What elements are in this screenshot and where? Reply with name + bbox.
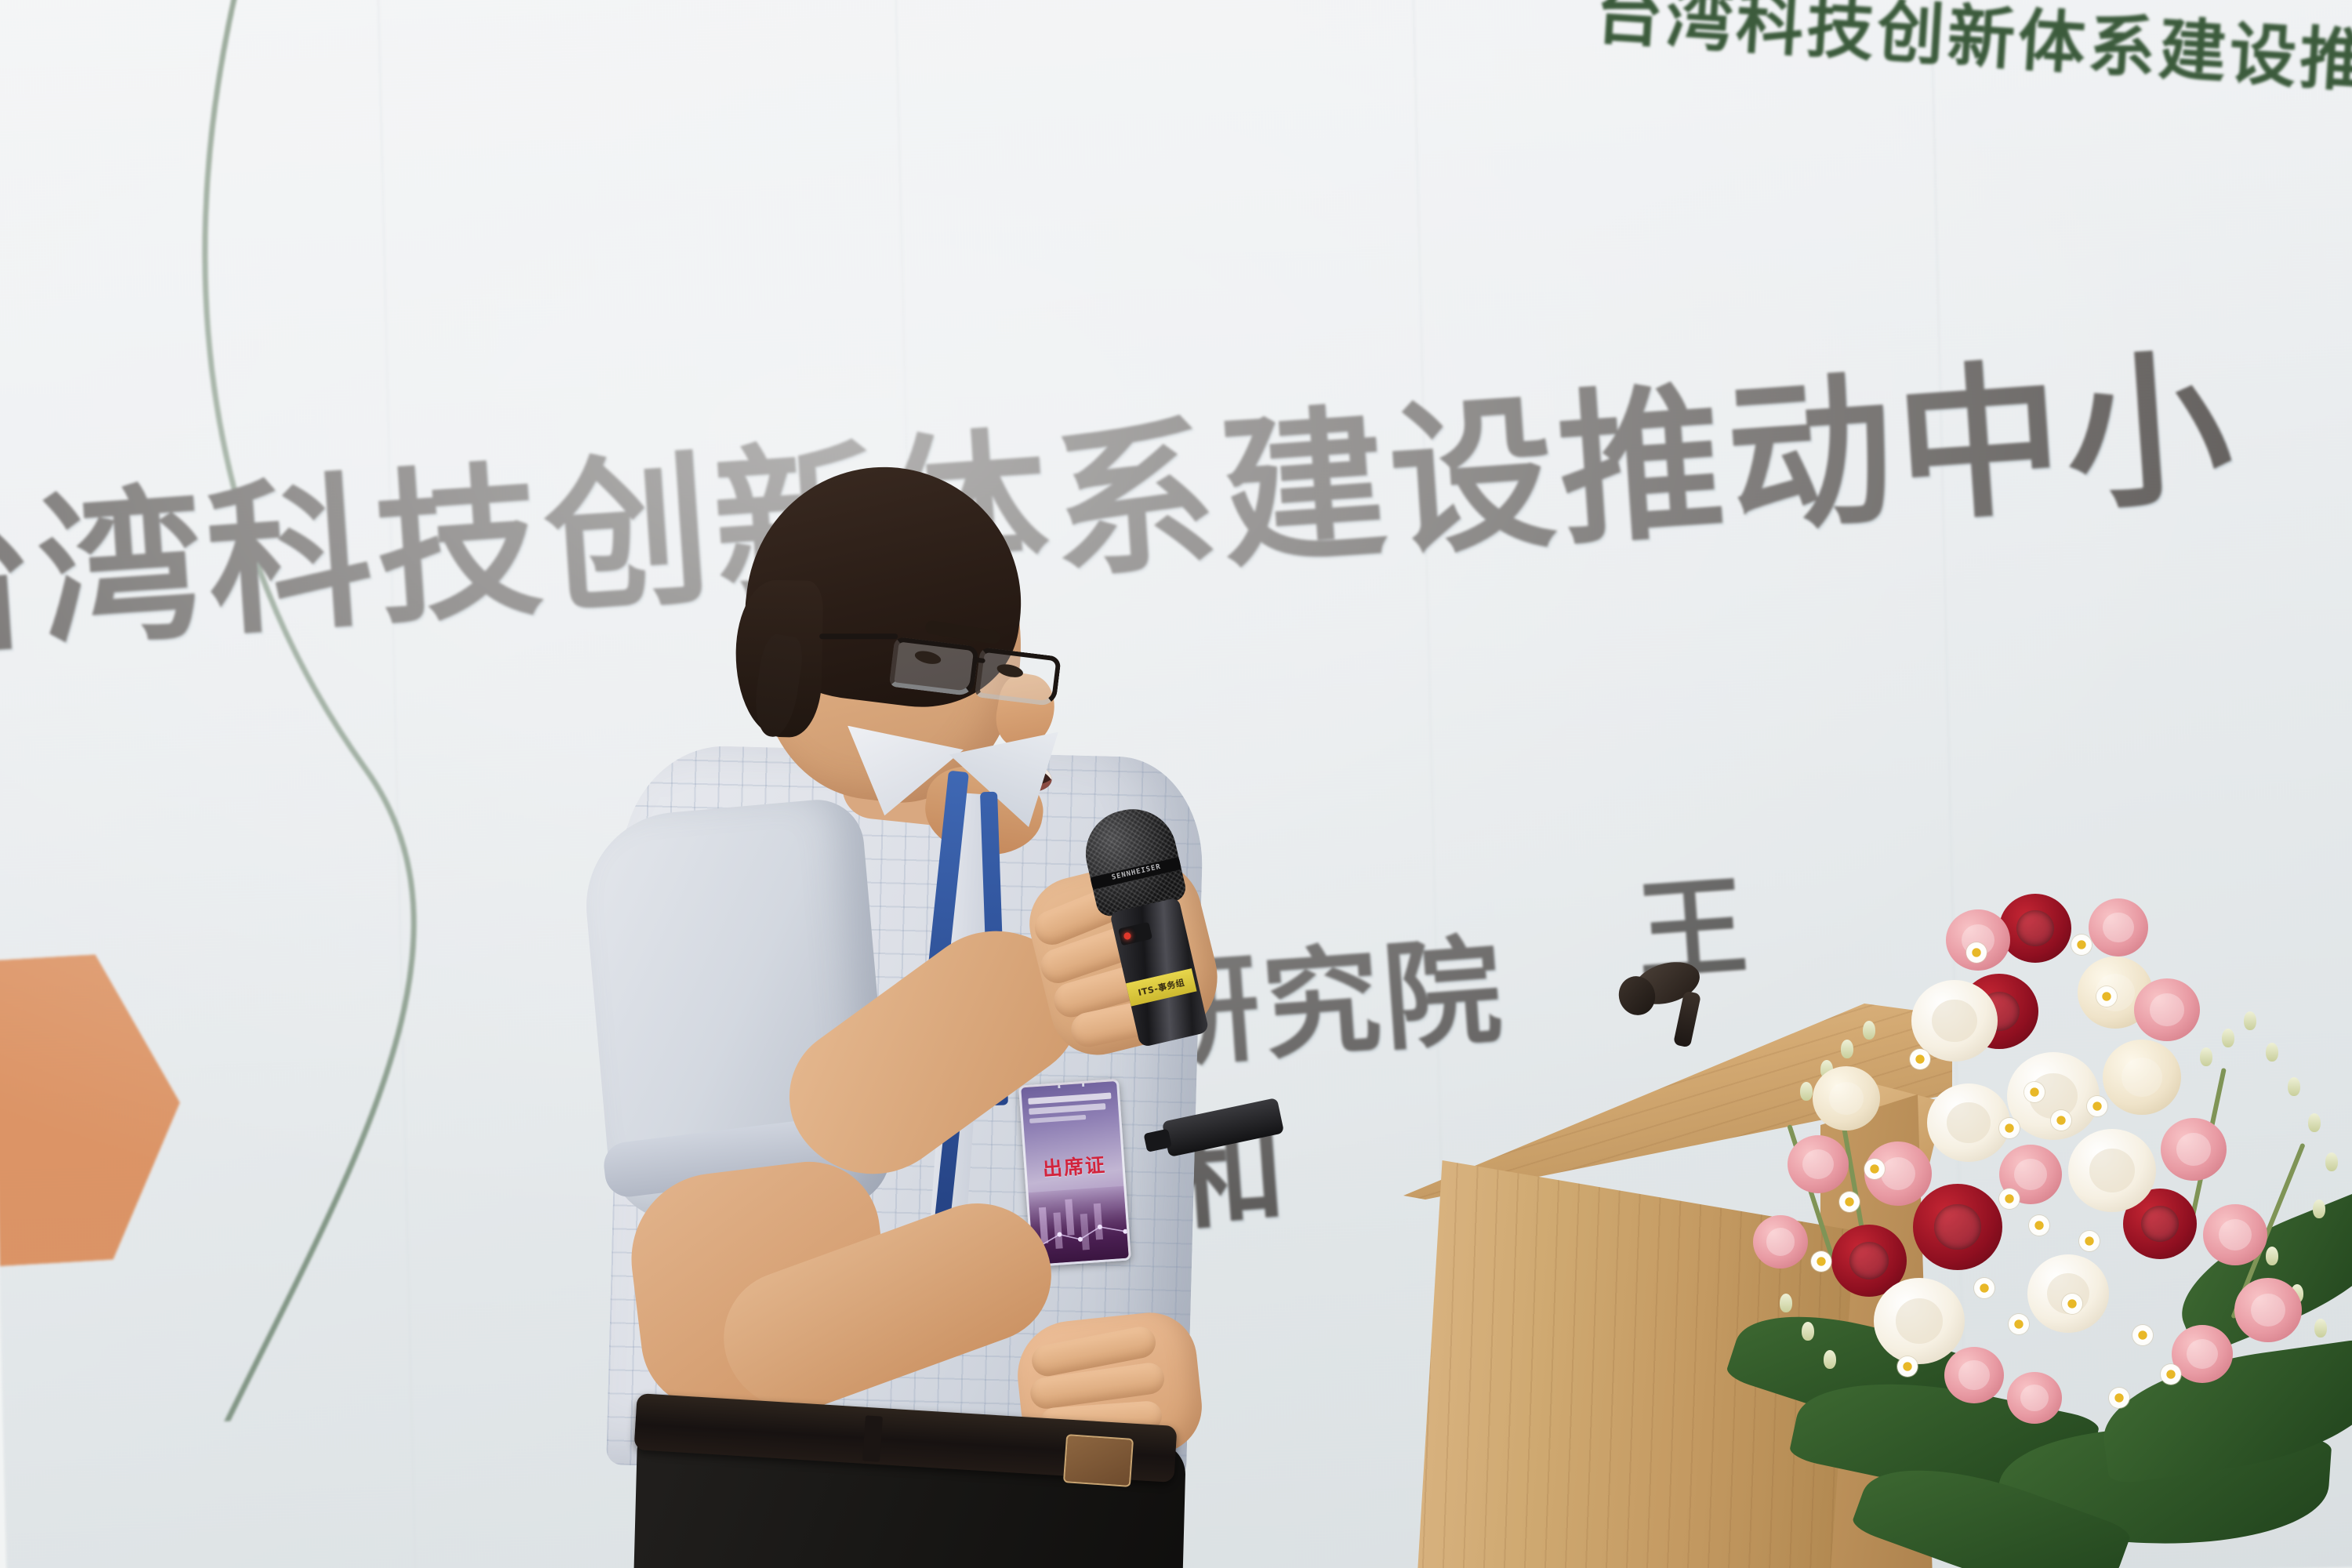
flower-red-rose	[1913, 1184, 2002, 1270]
flower-chamomile	[1974, 1278, 1994, 1298]
flower-chamomile	[2051, 1110, 2071, 1131]
flower-pink-lisianthus	[2007, 1372, 2062, 1424]
flower-pink-lisianthus	[2134, 978, 2200, 1041]
belt-buckle	[1063, 1434, 1134, 1487]
flower-chamomile	[1966, 942, 1987, 963]
speaker-figure: 出席证	[612, 439, 1396, 1568]
flower-pink-lisianthus	[1788, 1135, 1849, 1193]
photo-scene: 台湾科技创新体系建设推动中小 学台湾研究院 关系和 王 台湾科技创新体系建设推动…	[0, 0, 2352, 1568]
badge-network-graphic	[1036, 1220, 1131, 1253]
flower-chamomile	[2109, 1388, 2129, 1408]
flower-chamomile	[2071, 935, 2092, 955]
orange-hexagon-decor	[0, 950, 189, 1276]
flower-chamomile	[1999, 1118, 2020, 1138]
flower-pink-lisianthus	[2203, 1204, 2267, 1265]
flower-chamomile	[1910, 1049, 1930, 1069]
flower-chamomile	[1864, 1159, 1885, 1179]
flower-chamomile	[2079, 1231, 2100, 1251]
flower-red-rose	[1999, 894, 2071, 963]
flower-white-rose	[2068, 1129, 2156, 1212]
flower-chamomile	[2087, 1096, 2107, 1116]
flower-chamomile	[1839, 1192, 1860, 1212]
eyeglass-lens-left	[889, 637, 979, 697]
flower-chamomile	[1999, 1189, 2020, 1209]
belt-loop	[862, 1415, 883, 1461]
flower-chamomile	[2062, 1294, 2082, 1314]
flower-pink-lisianthus	[2089, 898, 2148, 956]
flower-chamomile	[2161, 1364, 2181, 1385]
backdrop-header-text: 台湾科技创新体系建设推动中	[1593, 0, 2352, 114]
gooseneck-microphone	[1611, 960, 1721, 1054]
badge-title: 出席证	[1025, 1149, 1123, 1183]
flower-bouquet	[1764, 886, 2352, 1568]
flower-chamomile	[1897, 1356, 1918, 1377]
badge-header-lines	[1028, 1093, 1113, 1130]
flower-pink-lisianthus	[1944, 1347, 2004, 1403]
flower-pink-lisianthus	[2161, 1118, 2227, 1181]
flower-chamomile	[2132, 1325, 2153, 1345]
flower-cream-rose	[1813, 1066, 1880, 1131]
flower-pink-lisianthus	[1753, 1215, 1808, 1269]
flower-white-rose	[1927, 1083, 2010, 1162]
flower-chamomile	[1811, 1251, 1831, 1272]
flower-pink-lisianthus	[2234, 1278, 2302, 1342]
flower-chamomile	[2096, 986, 2117, 1007]
flower-cream-rose	[2103, 1040, 2181, 1115]
flower-chamomile	[2009, 1314, 2029, 1334]
flower-chamomile	[2024, 1082, 2045, 1102]
flower-white-rose	[1874, 1278, 1965, 1364]
flower-chamomile	[2029, 1215, 2049, 1236]
microphone-body	[1109, 898, 1209, 1048]
